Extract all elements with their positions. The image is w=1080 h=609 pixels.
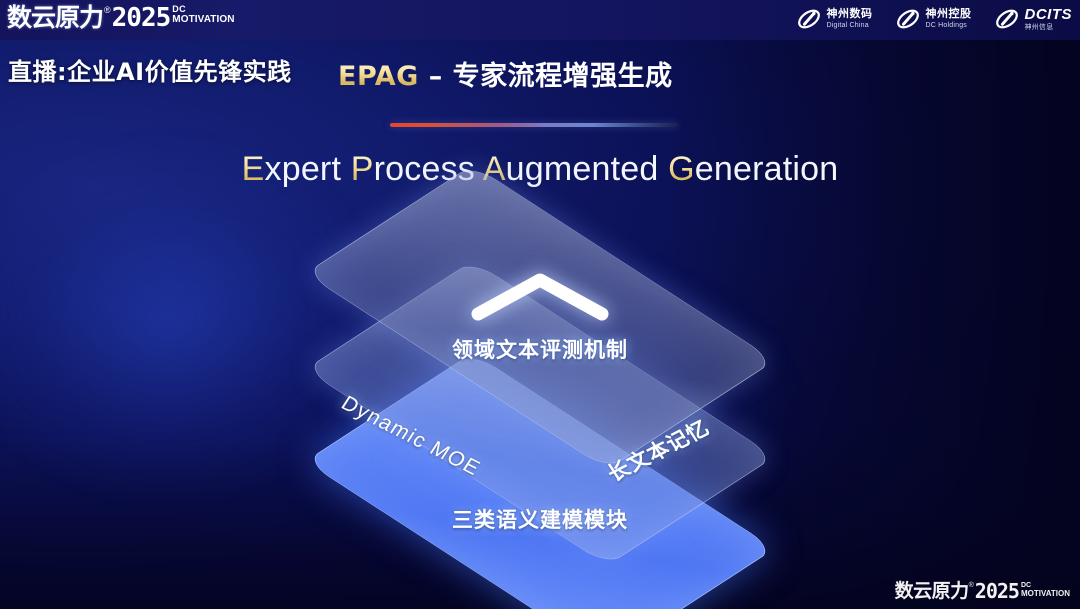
logo-label-en: DC Holdings: [926, 22, 972, 29]
logo-digital-china: 神州数码 Digital China: [796, 6, 873, 32]
brand-dc-label: DC: [172, 5, 234, 14]
footer-watermark: 数云原力 ® 2025 DC MOTIVATION: [895, 580, 1070, 603]
brand-year: 2025: [112, 3, 171, 33]
slide-title: EPAG – 专家流程增强生成: [338, 54, 673, 93]
acronym-rest-expert: xpert: [265, 150, 351, 188]
brand-registered-mark: ®: [104, 3, 111, 17]
live-stream-title: 直播:企业AI价值先锋实践: [8, 52, 292, 87]
swirl-logo-icon: [796, 6, 822, 32]
acronym-rest-generation: eneration: [695, 150, 839, 188]
logo-dcits: DCITS 神州信息: [994, 6, 1073, 32]
logo-label-cn: 神州控股: [926, 9, 972, 20]
logo-label-en-primary: DCITS: [1025, 7, 1073, 22]
logo-label-cn: 神州数码: [827, 9, 873, 20]
brand-dc-motivation: DC MOTIVATION: [172, 5, 234, 25]
title-divider: [390, 123, 678, 127]
slide-title-abbr: EPAG: [338, 61, 419, 92]
slide-canvas: 数云原力 ® 2025 DC MOTIVATION 神州数码 Digital C…: [0, 0, 1080, 609]
swirl-logo-icon: [994, 6, 1020, 32]
swirl-logo-icon: [895, 6, 921, 32]
partner-logo-row: 神州数码 Digital China 神州控股 DC Holdings: [796, 6, 1073, 32]
watermark-dc-label: DC: [1021, 582, 1070, 589]
logo-dc-holdings: 神州控股 DC Holdings: [895, 6, 972, 32]
brand-lockup: 数云原力 ® 2025 DC MOTIVATION: [7, 3, 235, 33]
acronym-rest-augmented: ugmented: [506, 150, 668, 188]
chevron-up-icon: [468, 270, 612, 322]
brand-name-cn: 数云原力: [7, 3, 103, 33]
header-bar: 数云原力 ® 2025 DC MOTIVATION 神州数码 Digital C…: [0, 0, 1080, 40]
acronym-cap-g: G: [668, 150, 695, 188]
watermark-brand-cn: 数云原力: [895, 580, 969, 603]
logo-label-cn-secondary: 神州信息: [1025, 24, 1073, 31]
slide-title-cn: – 专家流程增强生成: [419, 61, 673, 92]
acronym-cap-p: P: [351, 150, 374, 188]
layered-architecture-diagram: 领域文本评测机制 Dynamic MOE 长文本记忆 三类语义建模模块: [195, 212, 885, 592]
watermark-dc-motivation: DC MOTIVATION: [1021, 582, 1070, 598]
acronym-cap-e: E: [242, 150, 265, 188]
expanded-acronym: Expert Process Augmented Generation: [0, 150, 1080, 189]
diagram-label-bottom: 三类语义建模模块: [452, 504, 628, 534]
diagram-label-top: 领域文本评测机制: [452, 334, 628, 364]
brand-motivation-label: MOTIVATION: [172, 15, 234, 25]
watermark-motivation-label: MOTIVATION: [1021, 590, 1070, 598]
watermark-year: 2025: [975, 580, 1019, 603]
watermark-registered-mark: ®: [969, 580, 974, 591]
logo-label-en: Digital China: [827, 22, 873, 29]
